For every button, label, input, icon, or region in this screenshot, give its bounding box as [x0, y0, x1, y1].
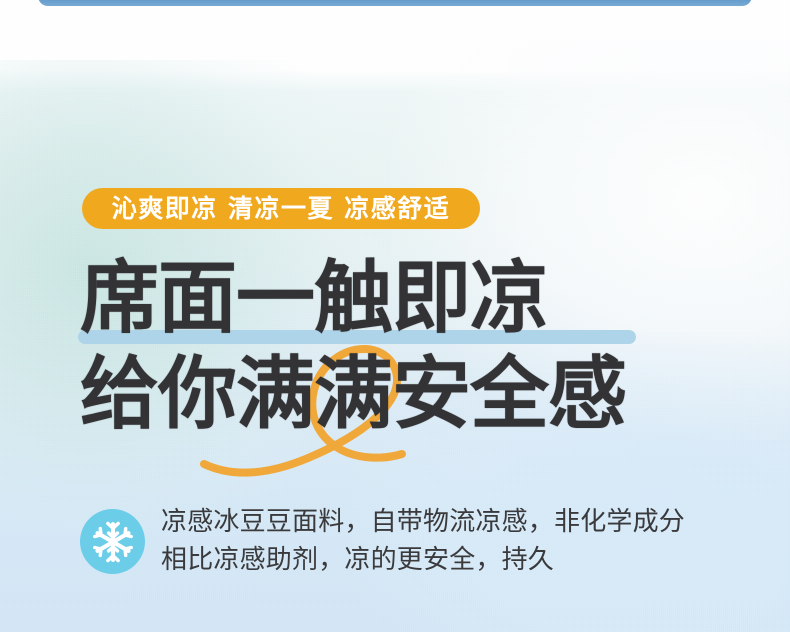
headline-line-1: 席面一触即凉: [80, 259, 548, 338]
snowflake-icon: [91, 520, 135, 564]
feature-bullet-row: 凉感冰豆豆面料，自带物流凉感，非化学成分 相比凉感助剂，凉的更安全，持久: [80, 504, 760, 580]
product-banner-page: 沁爽即凉 清凉一夏 凉感舒适 席面一触即凉 给你满满安全感: [0, 0, 790, 632]
section-divider-bar: [38, 0, 752, 6]
promo-badge-label: 沁爽即凉 清凉一夏 凉感舒适: [112, 196, 450, 221]
feature-bullet-line-2: 相比凉感助剂，凉的更安全，持久: [161, 542, 685, 580]
feature-bullet-line-1: 凉感冰豆豆面料，自带物流凉感，非化学成分: [161, 504, 685, 542]
feature-bullet-text: 凉感冰豆豆面料，自带物流凉感，非化学成分 相比凉感助剂，凉的更安全，持久: [161, 504, 685, 580]
promo-badge: 沁爽即凉 清凉一夏 凉感舒适: [82, 188, 480, 229]
headline-line-2: 给你满满安全感: [80, 355, 626, 434]
snowflake-icon-badge: [80, 509, 145, 574]
